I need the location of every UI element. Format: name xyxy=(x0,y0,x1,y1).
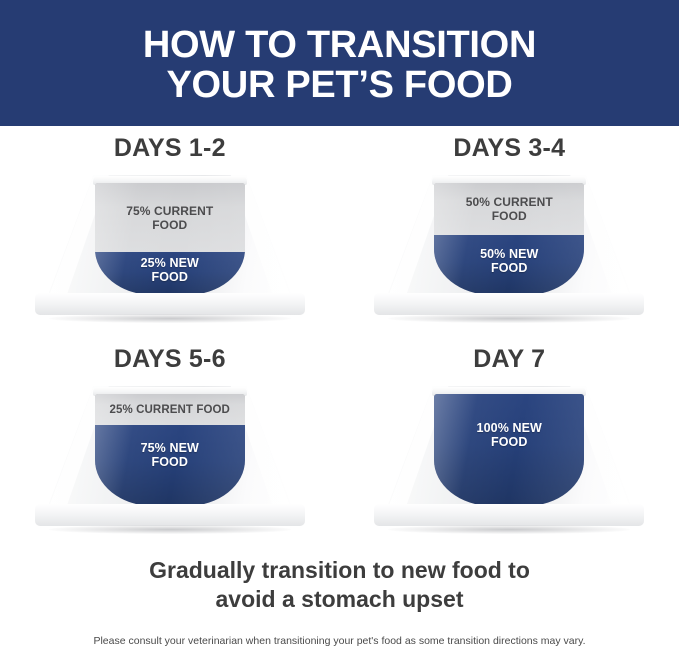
bowl-cavity: 75% CURRENT FOOD 25% NEW FOOD xyxy=(95,183,245,295)
new-food-label-line2: FOOD xyxy=(434,435,584,449)
bowl-drop-shadow xyxy=(388,525,630,534)
new-food-label: 50% NEW FOOD xyxy=(434,247,584,275)
current-food-label: 75% CURRENT FOOD xyxy=(95,204,245,232)
pet-food-bowl: 100% NEW FOOD xyxy=(364,386,654,541)
bowl-base xyxy=(374,504,644,526)
new-food-label: 75% NEW FOOD xyxy=(95,441,245,469)
footer-headline-line2: avoid a stomach upset xyxy=(216,585,464,614)
new-food-label-line2: FOOD xyxy=(434,261,584,275)
new-food-label-line1: 50% NEW xyxy=(434,247,584,261)
current-food-label-line2: FOOD xyxy=(434,209,584,223)
bowl-title: DAYS 5-6 xyxy=(114,345,226,374)
bowl-grid: DAYS 1-2 75% CURRENT FOOD 25% NEW FOOD xyxy=(0,126,679,556)
bowl-base xyxy=(35,293,305,315)
new-food-label: 100% NEW FOOD xyxy=(434,421,584,449)
current-food-label-line1: 25% CURRENT FOOD xyxy=(95,403,245,417)
bowl-cavity: 100% NEW FOOD xyxy=(434,394,584,506)
header-title-line1: HOW TO TRANSITION xyxy=(143,25,536,65)
header-title-line2: YOUR PET’S FOOD xyxy=(167,65,513,105)
bowl-title: DAYS 1-2 xyxy=(114,134,226,163)
bowl-base xyxy=(374,293,644,315)
bowl-base xyxy=(35,504,305,526)
new-food-label-line2: FOOD xyxy=(95,270,245,284)
new-food-label-line1: 75% NEW xyxy=(95,441,245,455)
footer: Gradually transition to new food to avoi… xyxy=(0,556,679,647)
new-food-label-line1: 100% NEW xyxy=(434,421,584,435)
pet-food-bowl: 75% CURRENT FOOD 25% NEW FOOD xyxy=(25,175,315,330)
new-food-fill xyxy=(434,394,584,506)
current-food-label-line1: 75% CURRENT xyxy=(95,204,245,218)
new-food-label-line1: 25% NEW xyxy=(95,256,245,270)
footer-disclaimer: Please consult your veterinarian when tr… xyxy=(93,635,585,647)
bowl-title: DAY 7 xyxy=(473,345,545,374)
pet-food-bowl: 50% CURRENT FOOD 50% NEW FOOD xyxy=(364,175,654,330)
bowl-card-days-1-2: DAYS 1-2 75% CURRENT FOOD 25% NEW FOOD xyxy=(0,134,340,345)
bowl-cavity: 25% CURRENT FOOD 75% NEW FOOD xyxy=(95,394,245,506)
current-food-label: 25% CURRENT FOOD xyxy=(95,403,245,417)
pet-food-bowl: 25% CURRENT FOOD 75% NEW FOOD xyxy=(25,386,315,541)
bowl-card-day-7: DAY 7 100% NEW FOOD xyxy=(340,345,679,556)
bowl-cavity: 50% CURRENT FOOD 50% NEW FOOD xyxy=(434,183,584,295)
bowl-card-days-3-4: DAYS 3-4 50% CURRENT FOOD 50% NEW FOOD xyxy=(340,134,679,345)
current-food-label-line1: 50% CURRENT xyxy=(434,195,584,209)
bowl-drop-shadow xyxy=(49,314,291,323)
bowl-drop-shadow xyxy=(388,314,630,323)
new-food-label: 25% NEW FOOD xyxy=(95,256,245,284)
current-food-label-line2: FOOD xyxy=(95,218,245,232)
bowl-card-days-5-6: DAYS 5-6 25% CURRENT FOOD 75% NEW FOOD xyxy=(0,345,340,556)
bowl-drop-shadow xyxy=(49,525,291,534)
footer-headline-line1: Gradually transition to new food to xyxy=(149,556,530,585)
header-banner: HOW TO TRANSITION YOUR PET’S FOOD xyxy=(0,0,679,126)
bowl-title: DAYS 3-4 xyxy=(453,134,565,163)
new-food-label-line2: FOOD xyxy=(95,455,245,469)
current-food-label: 50% CURRENT FOOD xyxy=(434,195,584,223)
